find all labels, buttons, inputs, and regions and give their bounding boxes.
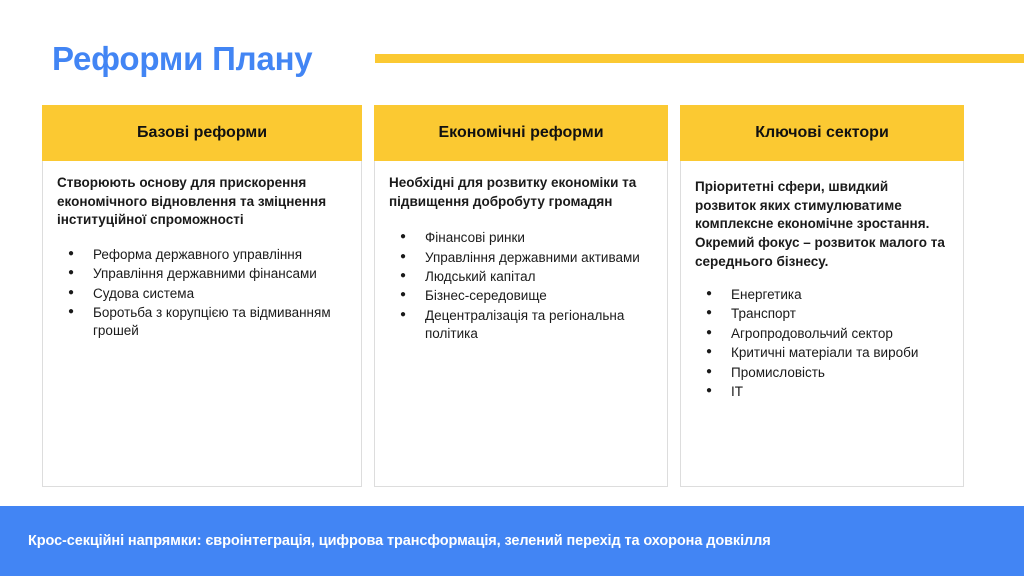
- list-item: Управління державними активами: [389, 249, 653, 267]
- column-bullet-list: Фінансові ринки Управління державними ак…: [389, 229, 653, 343]
- list-item: Децентралізація та регіональна політика: [389, 307, 653, 344]
- list-item: Агропродовольчий сектор: [695, 325, 949, 343]
- list-item: Енергетика: [695, 286, 949, 304]
- list-item: Транспорт: [695, 305, 949, 323]
- column-card-key-sectors: Ключові сектори Пріоритетні сфери, швидк…: [680, 105, 964, 487]
- list-item: Реформа державного управління: [57, 246, 347, 264]
- reform-columns: Базові реформи Створюють основу для прис…: [42, 105, 964, 487]
- column-card-economic-reforms: Економічні реформи Необхідні для розвитк…: [374, 105, 668, 487]
- column-intro-text: Необхідні для розвитку економіки та підв…: [389, 174, 653, 211]
- list-item: Критичні матеріали та вироби: [695, 344, 949, 362]
- column-body-base-reforms: Створюють основу для прискорення економі…: [42, 161, 362, 487]
- column-card-base-reforms: Базові реформи Створюють основу для прис…: [42, 105, 362, 487]
- page-title: Реформи Плану: [52, 40, 312, 78]
- column-body-key-sectors: Пріоритетні сфери, швидкий розвиток яких…: [680, 161, 964, 487]
- list-item: ІТ: [695, 383, 949, 401]
- list-item: Людський капітал: [389, 268, 653, 286]
- title-rule-divider: [375, 54, 1024, 63]
- list-item: Боротьба з корупцією та відмиванням грош…: [57, 304, 347, 341]
- column-body-economic-reforms: Необхідні для розвитку економіки та підв…: [374, 161, 668, 487]
- column-header-key-sectors: Ключові сектори: [680, 105, 964, 161]
- column-header-label: Базові реформи: [137, 123, 267, 142]
- list-item: Судова система: [57, 285, 347, 303]
- list-item: Бізнес-середовище: [389, 287, 653, 305]
- list-item: Промисловість: [695, 364, 949, 382]
- column-header-label: Економічні реформи: [438, 123, 603, 142]
- footer-banner-text: Крос-секційні напрямки: євроінтеграція, …: [0, 533, 771, 549]
- list-item: Управління державними фінансами: [57, 265, 347, 283]
- column-intro-text: Створюють основу для прискорення економі…: [57, 174, 347, 230]
- column-bullet-list: Реформа державного управління Управління…: [57, 246, 347, 341]
- column-header-label: Ключові сектори: [755, 123, 889, 142]
- column-intro-text: Пріоритетні сфери, швидкий розвиток яких…: [695, 178, 949, 271]
- list-item: Фінансові ринки: [389, 229, 653, 247]
- column-bullet-list: Енергетика Транспорт Агропродовольчий се…: [695, 286, 949, 401]
- footer-banner: Крос-секційні напрямки: євроінтеграція, …: [0, 506, 1024, 576]
- column-header-base-reforms: Базові реформи: [42, 105, 362, 161]
- column-header-economic-reforms: Економічні реформи: [374, 105, 668, 161]
- slide-header: Реформи Плану: [0, 0, 1024, 100]
